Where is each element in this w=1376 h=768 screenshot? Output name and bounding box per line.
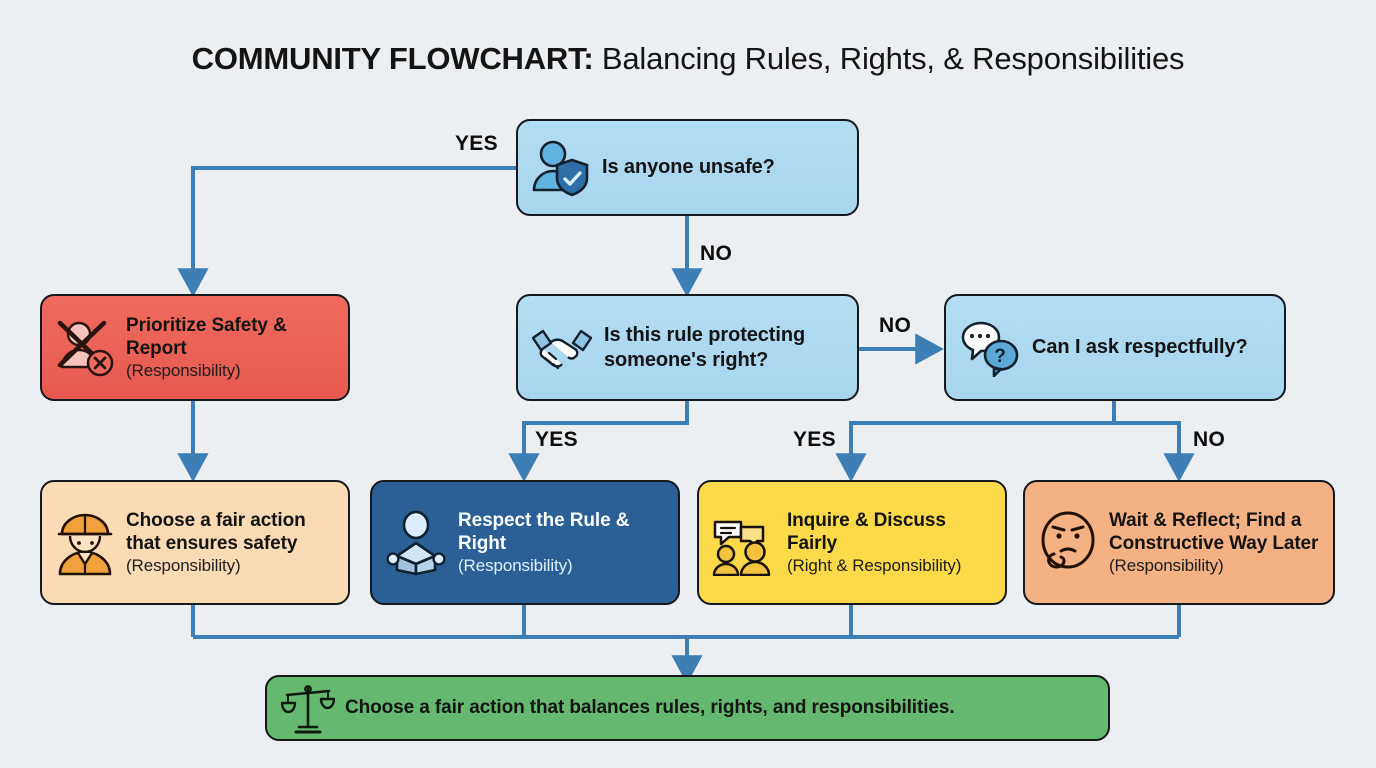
node-respect-rule-right[interactable]: Respect the Rule & Right (Responsibility… — [370, 480, 680, 605]
node-is-anyone-unsafe[interactable]: Is anyone unsafe? — [516, 119, 859, 216]
node-subtitle: (Responsibility) — [126, 360, 336, 382]
edge-label-no-rule: NO — [879, 314, 911, 338]
node-prioritize-safety-report[interactable]: Prioritize Safety & Report (Responsibili… — [40, 294, 350, 401]
svg-text:?: ? — [994, 346, 1006, 367]
node-inquire-discuss-fairly[interactable]: Inquire & Discuss Fairly (Right & Respon… — [697, 480, 1007, 605]
node-subtitle: (Responsibility) — [458, 555, 666, 577]
node-title: Is anyone unsafe? — [602, 155, 845, 180]
node-subtitle: (Right & Responsibility) — [787, 555, 993, 577]
node-text: Prioritize Safety & Report (Responsibili… — [126, 314, 336, 382]
node-text: Choose a fair action that balances rules… — [345, 696, 1094, 720]
flowchart-canvas: COMMUNITY FLOWCHART: Balancing Rules, Ri… — [0, 0, 1376, 768]
node-wait-reflect-constructive[interactable]: Wait & Reflect; Find a Constructive Way … — [1023, 480, 1335, 605]
node-title: Wait & Reflect; Find a Constructive Way … — [1109, 509, 1321, 555]
edge-label-yes-rule: YES — [535, 428, 578, 452]
node-text: Is this rule protecting someone's right? — [604, 323, 845, 373]
node-title: Choose a fair action that balances rules… — [345, 696, 1094, 720]
node-text: Choose a fair action that ensures safety… — [126, 509, 336, 577]
node-text: Wait & Reflect; Find a Constructive Way … — [1109, 509, 1321, 577]
node-can-i-ask-respectfully[interactable]: ? Can I ask respectfully? — [944, 294, 1286, 401]
edge-ask-no — [1114, 423, 1179, 466]
node-title: Prioritize Safety & Report — [126, 314, 336, 360]
edge-unsafe-yes — [193, 168, 516, 281]
node-subtitle: (Responsibility) — [1109, 555, 1321, 577]
node-text: Respect the Rule & Right (Responsibility… — [458, 509, 666, 577]
edge-label-yes-unsafe: YES — [455, 132, 498, 156]
handshake-icon — [530, 322, 594, 374]
node-title: Choose a fair action that ensures safety — [126, 509, 336, 555]
worker-hardhat-icon — [54, 510, 116, 576]
node-is-rule-protecting-right[interactable]: Is this rule protecting someone's right? — [516, 294, 859, 401]
edge-label-no-ask: NO — [1193, 428, 1225, 452]
scales-of-justice-icon — [281, 682, 335, 734]
node-title: Respect the Rule & Right — [458, 509, 666, 555]
node-choose-fair-action-safety[interactable]: Choose a fair action that ensures safety… — [40, 480, 350, 605]
no-person-prohibited-icon — [54, 317, 116, 379]
node-title: Can I ask respectfully? — [1032, 335, 1272, 360]
node-text: Inquire & Discuss Fairly (Right & Respon… — [787, 509, 993, 577]
node-title: Is this rule protecting someone's right? — [604, 323, 845, 373]
speech-bubbles-question-icon: ? — [958, 319, 1022, 377]
edge-ask-yes — [851, 401, 1114, 466]
node-final-fair-action[interactable]: Choose a fair action that balances rules… — [265, 675, 1110, 741]
person-shield-icon — [530, 138, 592, 198]
edge-label-yes-ask: YES — [793, 428, 836, 452]
node-text: Can I ask respectfully? — [1032, 335, 1272, 360]
node-text: Is anyone unsafe? — [602, 155, 845, 180]
two-people-chat-icon — [711, 510, 777, 576]
thinking-face-icon — [1037, 511, 1099, 575]
node-subtitle: (Responsibility) — [126, 555, 336, 577]
edge-label-no-unsafe: NO — [700, 242, 732, 266]
node-title: Inquire & Discuss Fairly — [787, 509, 993, 555]
person-reading-book-icon — [384, 510, 448, 576]
